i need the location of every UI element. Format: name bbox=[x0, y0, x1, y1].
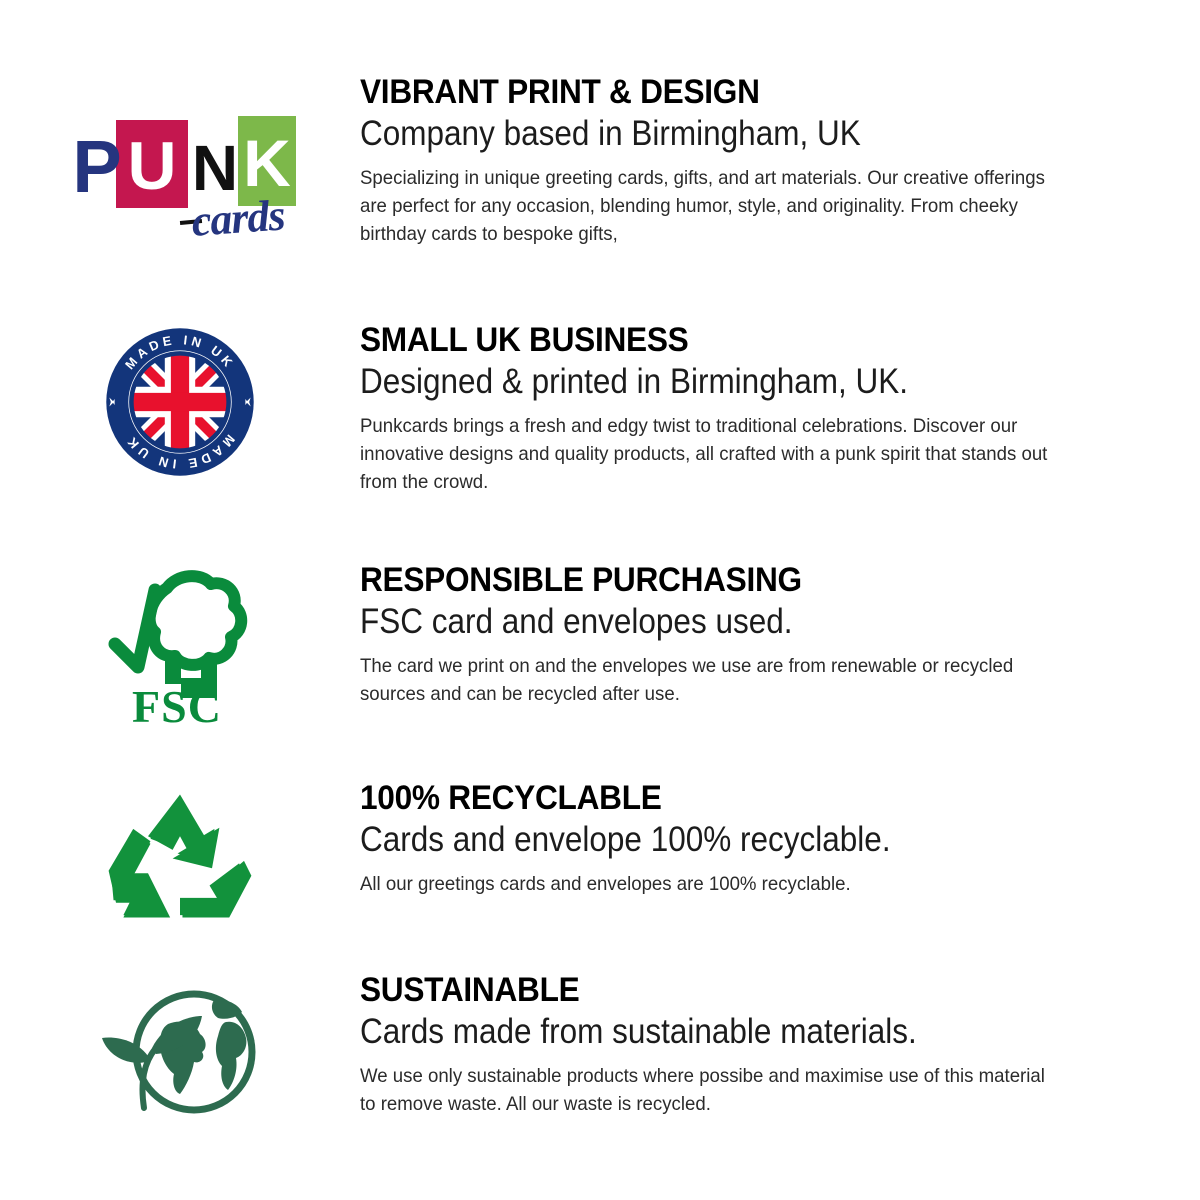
icon-cell-made-in-uk: MADE IN UK MADE IN UK bbox=[0, 322, 360, 478]
feature-subtitle-vibrant: Company based in Birmingham, UK bbox=[360, 114, 1028, 153]
feature-row-responsible-purchasing: FSC RESPONSIBLE PURCHASING FSC card and … bbox=[0, 562, 1200, 726]
punk-letter-k: K bbox=[238, 130, 296, 200]
feature-subtitle-recyclable: Cards and envelope 100% recyclable. bbox=[360, 820, 1028, 859]
feature-body-vibrant: Specializing in unique greeting cards, g… bbox=[360, 165, 1048, 249]
text-cell-recyclable: 100% RECYCLABLE Cards and envelope 100% … bbox=[360, 780, 1200, 899]
made-in-uk-badge-icon: MADE IN UK MADE IN UK bbox=[104, 326, 256, 478]
fsc-tree-icon: FSC bbox=[105, 566, 255, 726]
feature-title-vibrant: VIBRANT PRINT & DESIGN bbox=[360, 74, 1050, 110]
feature-subtitle-sustainable: Cards made from sustainable materials. bbox=[360, 1012, 1028, 1051]
feature-row-sustainable: SUSTAINABLE Cards made from sustainable … bbox=[0, 972, 1200, 1119]
text-cell-responsible-purchasing: RESPONSIBLE PURCHASING FSC card and enve… bbox=[360, 562, 1200, 709]
feature-row-small-uk-business: MADE IN UK MADE IN UK SMALL UK BUSINESS … bbox=[0, 322, 1200, 497]
feature-subtitle-responsible-purchasing: FSC card and envelopes used. bbox=[360, 602, 1028, 641]
feature-body-small-uk-business: Punkcards brings a fresh and edgy twist … bbox=[360, 413, 1048, 497]
text-cell-sustainable: SUSTAINABLE Cards made from sustainable … bbox=[360, 972, 1200, 1119]
feature-title-small-uk-business: SMALL UK BUSINESS bbox=[360, 322, 1050, 358]
text-cell-small-uk-business: SMALL UK BUSINESS Designed & printed in … bbox=[360, 322, 1200, 497]
punk-letter-u: U bbox=[116, 132, 188, 202]
features-page: P U N K cards VIBRANT PRINT & DESIGN Com… bbox=[0, 0, 1200, 1200]
feature-body-sustainable: We use only sustainable products where p… bbox=[360, 1063, 1048, 1119]
feature-body-responsible-purchasing: The card we print on and the envelopes w… bbox=[360, 653, 1048, 709]
feature-subtitle-small-uk-business: Designed & printed in Birmingham, UK. bbox=[360, 362, 1028, 401]
recycle-arrows-icon bbox=[105, 792, 255, 920]
punkcards-logo: P U N K cards bbox=[62, 116, 298, 246]
feature-title-sustainable: SUSTAINABLE bbox=[360, 972, 1050, 1008]
icon-cell-globe bbox=[0, 972, 360, 1118]
fsc-label: FSC bbox=[132, 681, 222, 726]
feature-row-recyclable: 100% RECYCLABLE Cards and envelope 100% … bbox=[0, 780, 1200, 920]
text-cell-vibrant-print-design: VIBRANT PRINT & DESIGN Company based in … bbox=[360, 74, 1200, 249]
icon-cell-punkcards-logo: P U N K cards bbox=[0, 74, 360, 246]
icon-cell-recycle bbox=[0, 780, 360, 920]
feature-title-responsible-purchasing: RESPONSIBLE PURCHASING bbox=[360, 562, 1050, 598]
icon-cell-fsc: FSC bbox=[0, 562, 360, 726]
feature-row-vibrant-print-design: P U N K cards VIBRANT PRINT & DESIGN Com… bbox=[0, 74, 1200, 249]
globe-sprout-icon bbox=[90, 986, 270, 1118]
feature-body-recyclable: All our greetings cards and envelopes ar… bbox=[360, 871, 1048, 899]
feature-title-recyclable: 100% RECYCLABLE bbox=[360, 780, 1050, 816]
punk-script-cards: cards bbox=[190, 190, 286, 247]
